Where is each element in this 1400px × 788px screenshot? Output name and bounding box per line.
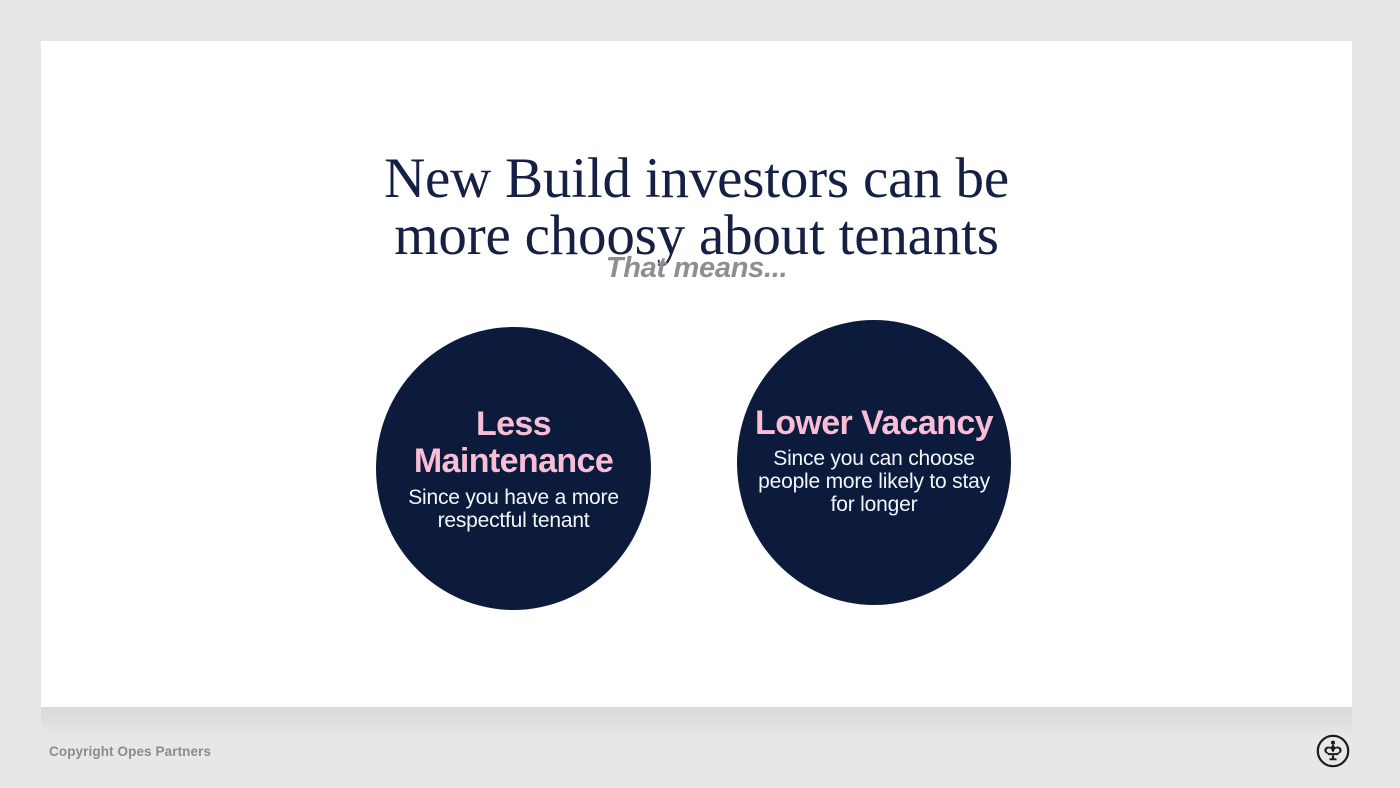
page-subtitle: That means... bbox=[41, 250, 1352, 286]
bubble-lower-vacancy: Lower Vacancy Since you can choose peopl… bbox=[737, 320, 1011, 605]
fleur-de-lis-circle-logo-icon bbox=[1314, 732, 1352, 770]
page-title-line-1: New Build investors can be bbox=[41, 150, 1352, 207]
bubble-less-maintenance: Less Maintenance Since you have a more r… bbox=[376, 327, 651, 610]
page-title: New Build investors can be more choosy a… bbox=[41, 150, 1352, 264]
footer-copyright: Copyright Opes Partners bbox=[49, 744, 211, 759]
bubble-lower-vacancy-body: Since you can choose people more likely … bbox=[751, 447, 997, 516]
slide-canvas: New Build investors can be more choosy a… bbox=[41, 41, 1352, 707]
slide-drop-shadow bbox=[41, 707, 1352, 737]
bubble-less-maintenance-title: Less Maintenance bbox=[390, 406, 637, 480]
bubble-lower-vacancy-title: Lower Vacancy bbox=[755, 405, 993, 442]
bubble-less-maintenance-body: Since you have a more respectful tenant bbox=[390, 486, 637, 532]
